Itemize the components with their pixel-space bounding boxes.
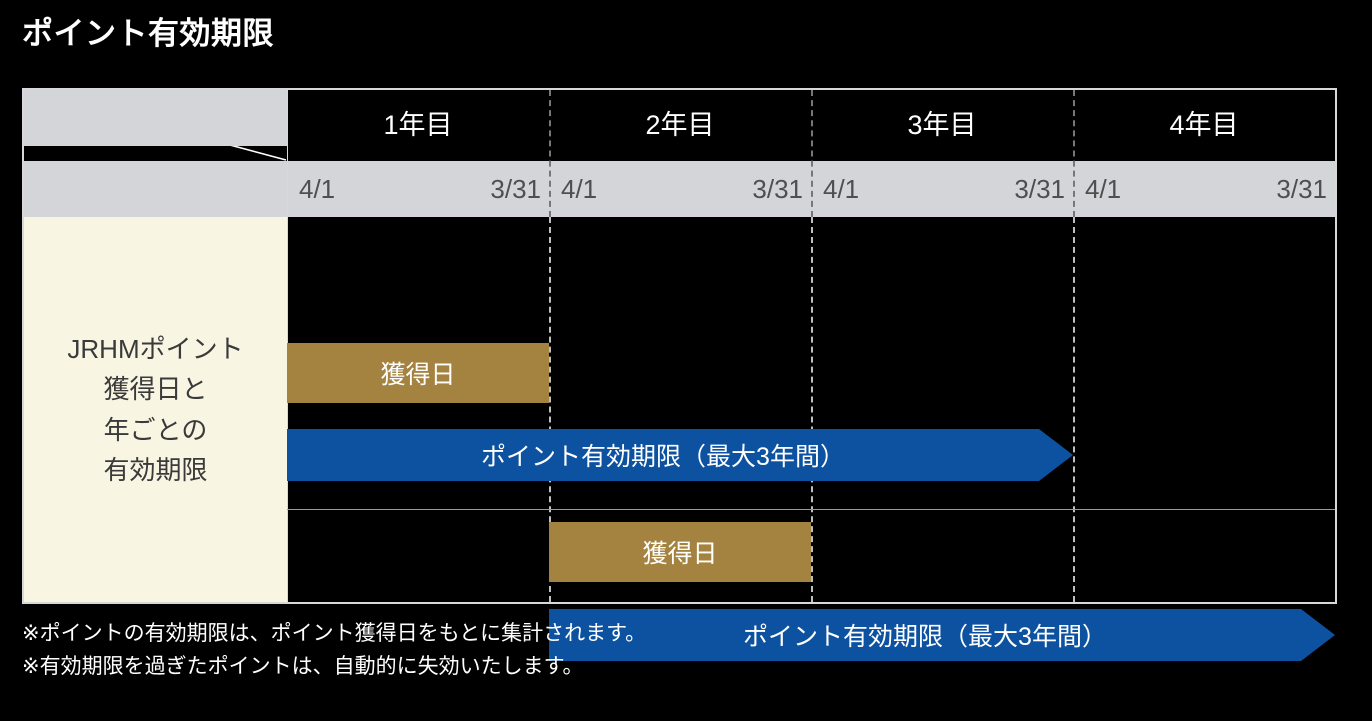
year-header-4: 4年目 <box>1073 90 1335 161</box>
body-separator-2 <box>811 217 813 602</box>
date-start-year-4: 4/1 <box>1085 161 1121 217</box>
page-title: ポイント有効期限 <box>22 18 274 49</box>
date-start-year-3: 4/1 <box>823 161 859 217</box>
date-cell-year-3: 4/1 3/31 <box>811 161 1073 217</box>
date-end-year-4: 3/31 <box>1276 161 1327 217</box>
date-end-year-2: 3/31 <box>752 161 803 217</box>
footnote-2: ※有効期限を過ぎたポイントは、自動的に失効いたします。 <box>22 651 646 684</box>
bar-validity-group1-label: ポイント有効期限（最大3年間） <box>287 425 1073 485</box>
year-header-1: 1年目 <box>287 90 549 161</box>
date-cell-year-2: 4/1 3/31 <box>549 161 811 217</box>
year-header-3: 3年目 <box>811 90 1073 161</box>
date-row-left-spacer <box>24 90 287 146</box>
footnotes: ※ポイントの有効期限は、ポイント獲得日をもとに集計されます。 ※有効期限を過ぎた… <box>22 618 646 683</box>
body-separator-3 <box>1073 217 1075 602</box>
header-separator-3 <box>1073 90 1075 217</box>
bar-acquisition-year2-label: 獲得日 <box>642 534 717 570</box>
group-divider <box>287 509 1335 510</box>
point-validity-table: 1年目 2年目 3年目 4年目 4/1 3/31 4/1 3/31 4/1 3/… <box>22 88 1337 604</box>
date-end-year-1: 3/31 <box>490 161 541 217</box>
bar-acquisition-year1-label: 獲得日 <box>380 355 455 391</box>
header-separator-2 <box>811 90 813 217</box>
date-start-year-2: 4/1 <box>561 161 597 217</box>
date-end-year-3: 3/31 <box>1014 161 1065 217</box>
date-cell-year-4: 4/1 3/31 <box>1073 161 1335 217</box>
bar-acquisition-year2: 獲得日 <box>549 522 811 582</box>
bar-validity-group2-label: ポイント有効期限（最大3年間） <box>549 605 1335 665</box>
header-separator-1 <box>549 90 551 217</box>
year-header-2: 2年目 <box>549 90 811 161</box>
bar-acquisition-year1: 獲得日 <box>287 343 549 403</box>
timeline-body: 獲得日 ポイント有効期限（最大3年間） 獲得日 ポイント有効期限（最大3年間） <box>287 217 1335 602</box>
bar-validity-group2: ポイント有効期限（最大3年間） <box>549 605 1335 665</box>
row-label-line-2: 獲得日と <box>103 369 207 409</box>
row-label-cell: JRHMポイント 獲得日と 年ごとの 有効期限 <box>24 217 287 602</box>
row-label-line-4: 有効期限 <box>103 450 207 490</box>
date-cell-year-1: 4/1 3/31 <box>287 161 549 217</box>
header-separator-0 <box>287 90 288 217</box>
date-start-year-1: 4/1 <box>299 161 335 217</box>
row-label-line-3: 年ごとの <box>104 410 208 450</box>
body-separator-0 <box>287 217 288 602</box>
row-label-line-1: JRHMポイント <box>67 329 243 369</box>
footnote-1: ※ポイントの有効期限は、ポイント獲得日をもとに集計されます。 <box>22 618 646 651</box>
bar-validity-group1: ポイント有効期限（最大3年間） <box>287 425 1073 485</box>
